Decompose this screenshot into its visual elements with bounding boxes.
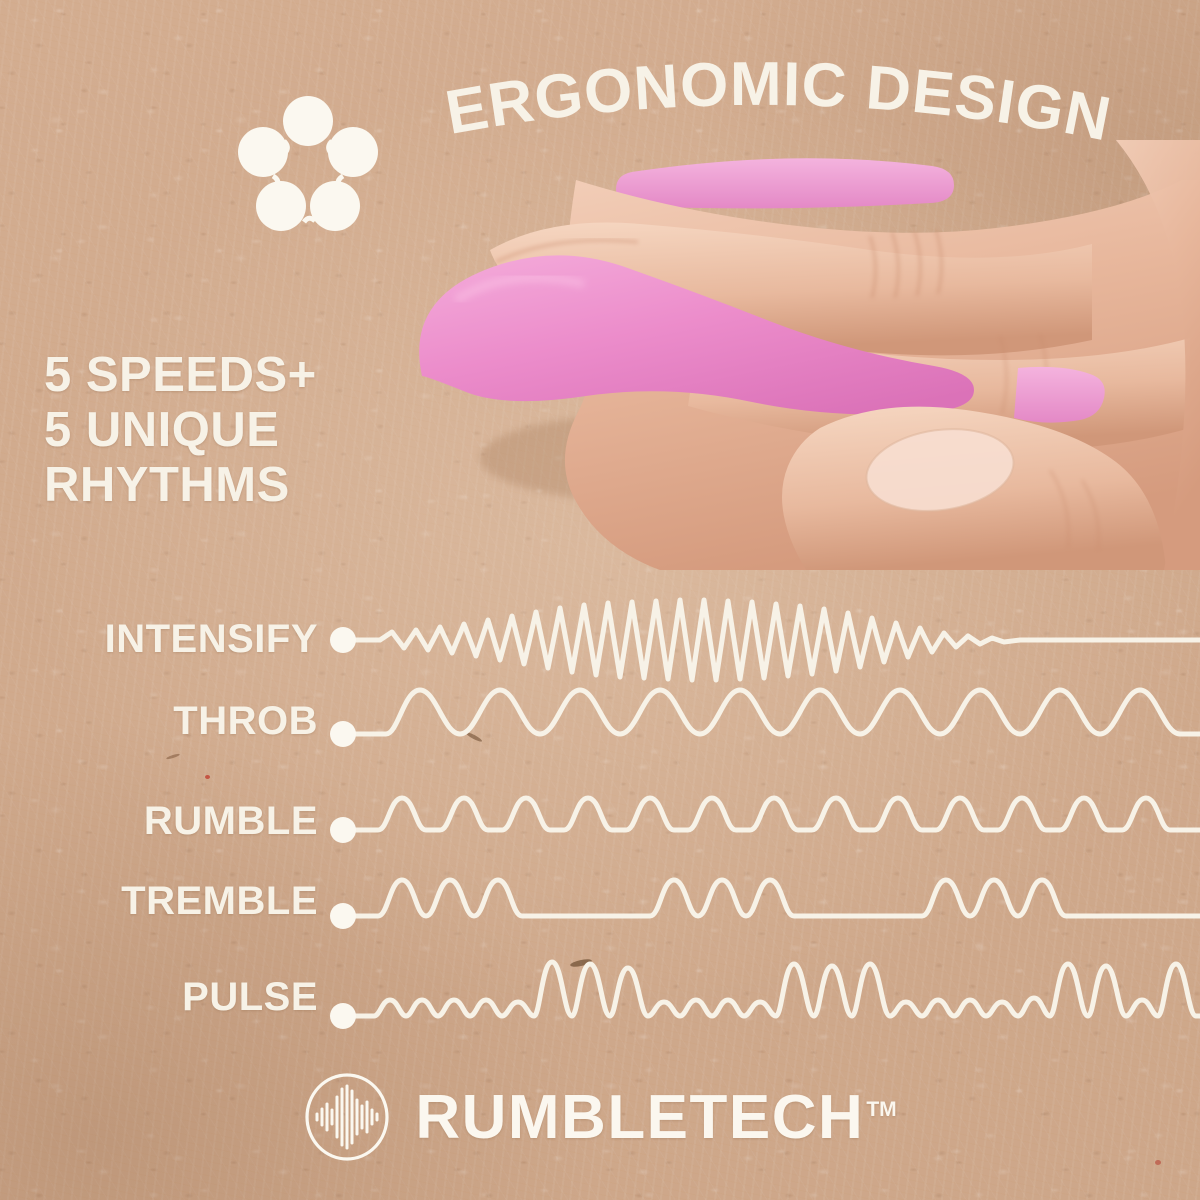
headline-line-1: 5 SPEEDS+	[44, 348, 464, 403]
brand-name: RUMBLETECHTM	[415, 1082, 896, 1153]
rhythm-label: RUMBLE	[144, 778, 318, 864]
audio-waveform-circle-icon	[303, 1073, 391, 1161]
headline-line-2: 5 UNIQUE	[44, 403, 464, 458]
infographic-canvas: ERGONOMIC DESIGN	[0, 0, 1200, 1200]
product-photo	[400, 140, 1200, 570]
rhythm-row-pulse: PULSE	[0, 954, 1200, 1040]
five-circle-flower-icon	[232, 90, 384, 242]
rhythm-waveform-throb	[320, 678, 1200, 764]
rhythm-waveform-rumble	[320, 778, 1200, 864]
rhythm-row-tremble: TREMBLE	[0, 858, 1200, 944]
rhythm-list: INTENSIFY THROB	[0, 596, 1200, 1026]
rhythm-label: PULSE	[182, 954, 318, 1040]
rhythm-waveform-pulse	[320, 954, 1200, 1040]
rhythm-row-rumble: RUMBLE	[0, 778, 1200, 864]
rhythm-row-throb: THROB	[0, 678, 1200, 764]
brand-lockup: RUMBLETECHTM	[0, 1062, 1200, 1172]
headline-block: 5 SPEEDS+ 5 UNIQUE RHYTHMS	[44, 348, 464, 513]
rhythm-label: TREMBLE	[121, 858, 318, 944]
rhythm-label: THROB	[173, 678, 318, 764]
trademark-symbol: TM	[866, 1098, 896, 1121]
rhythm-label: INTENSIFY	[105, 596, 318, 682]
headline-line-3: RHYTHMS	[44, 458, 464, 513]
svg-text:ERGONOMIC DESIGN: ERGONOMIC DESIGN	[441, 50, 1117, 155]
brand-name-text: RUMBLETECH	[415, 1083, 864, 1152]
rhythm-waveform-intensify	[320, 596, 1200, 682]
rhythm-waveform-tremble	[320, 858, 1200, 944]
page-title-text: ERGONOMIC DESIGN	[441, 50, 1117, 155]
rhythm-row-intensify: INTENSIFY	[0, 596, 1200, 682]
